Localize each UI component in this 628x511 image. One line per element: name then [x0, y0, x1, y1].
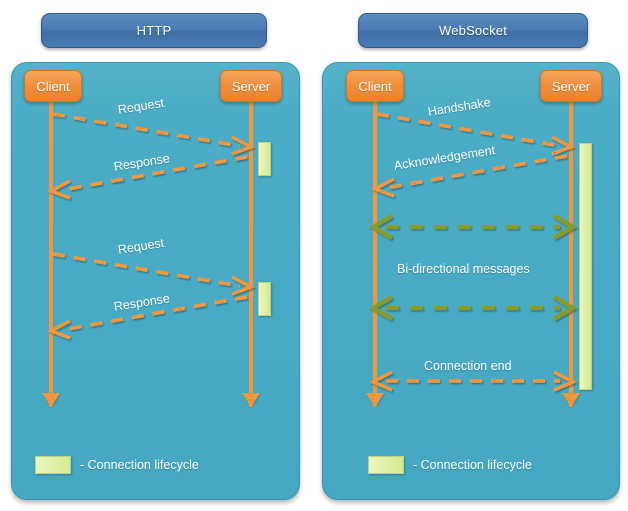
- lifeline-arrowhead-ws-client: [366, 393, 384, 407]
- panel-websocket: [322, 62, 620, 500]
- actor-label: Server: [232, 79, 270, 94]
- legend-swatch-lifecycle: [368, 456, 404, 474]
- actor-http-server[interactable]: Server: [220, 70, 282, 102]
- lifeline-ws-server: [569, 95, 573, 407]
- lifeline-ws-client: [373, 95, 377, 407]
- panel-title-websocket: WebSocket: [358, 13, 588, 48]
- lifeline-http-server: [249, 95, 253, 407]
- lifeline-http-client: [49, 95, 53, 407]
- actor-ws-server[interactable]: Server: [540, 70, 602, 102]
- legend-label: - Connection lifecycle: [80, 458, 199, 472]
- lifecycle-bar-websocket-1: [579, 143, 592, 390]
- actor-label: Server: [552, 79, 590, 94]
- actor-label: Client: [358, 79, 391, 94]
- panel-title-http: HTTP: [41, 13, 267, 48]
- legend-label: - Connection lifecycle: [413, 458, 532, 472]
- lifeline-arrowhead-http-client: [42, 393, 60, 407]
- message-label-ws-bidirectional: Bi-directional messages: [397, 262, 530, 276]
- message-label-ws-connection-end: Connection end: [424, 359, 512, 373]
- legend-websocket: - Connection lifecycle: [368, 456, 532, 474]
- actor-ws-client[interactable]: Client: [346, 70, 404, 102]
- actor-label: Client: [36, 79, 69, 94]
- panel-http: [11, 62, 300, 500]
- lifecycle-bar-http-2: [258, 282, 271, 316]
- diagram-canvas: HTTP WebSocket Client Server Request Res…: [0, 0, 628, 511]
- legend-swatch-lifecycle: [35, 456, 71, 474]
- lifeline-arrowhead-http-server: [242, 393, 260, 407]
- lifecycle-bar-http-1: [258, 142, 271, 176]
- actor-http-client[interactable]: Client: [24, 70, 82, 102]
- legend-http: - Connection lifecycle: [35, 456, 199, 474]
- lifeline-arrowhead-ws-server: [562, 393, 580, 407]
